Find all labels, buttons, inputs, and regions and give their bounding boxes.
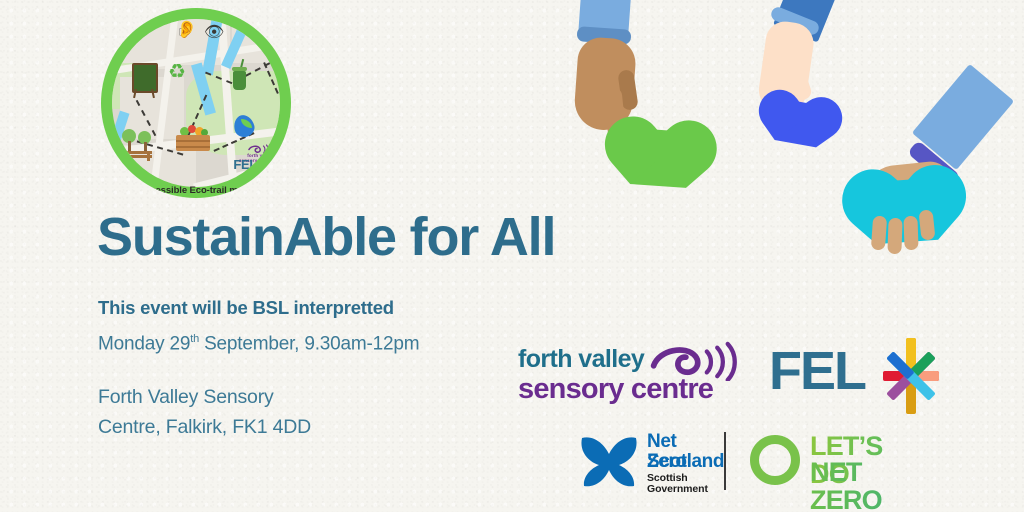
- vegetable-crate-icon: [174, 127, 214, 153]
- nzs-line4: Government: [647, 484, 708, 496]
- page-title: SustainAble for All: [97, 206, 555, 268]
- water-drop-leaf-icon: [232, 113, 258, 141]
- fel-logo: FEL: [769, 340, 944, 420]
- bsl-note: This event will be BSL interpretted: [98, 297, 394, 319]
- coffee-cup-icon: [230, 65, 252, 93]
- fel-wordmark: FEL: [769, 344, 865, 398]
- event-date: Monday 29th September, 9.30am-12pm: [98, 333, 419, 355]
- venue-address: Forth Valley Sensory Centre, Falkirk, FK…: [98, 382, 311, 442]
- eco-trail-map-badge: ☞ 👂 👁 ♻: [101, 8, 291, 198]
- ldnz-line2: NET ZERO: [810, 458, 925, 512]
- fvsc-line1: forth valley: [518, 345, 644, 374]
- green-circle-icon: [750, 435, 800, 485]
- recycle-icon: ♻: [168, 61, 186, 81]
- net-zero-scotland-logo: Net Zero Scotland Scottish Government: [578, 430, 718, 492]
- badge-fel-logo: FEL: [233, 154, 272, 174]
- poster-canvas: ☞ 👂 👁 ♻: [0, 0, 1024, 512]
- eye-vision-icon: 👁: [204, 24, 224, 39]
- date-ordinal: th: [190, 333, 199, 345]
- badge-fel-word: FEL: [233, 157, 257, 172]
- venue-line-2: Centre, Falkirk, FK1 4DD: [98, 412, 311, 442]
- nzs-line2: Scotland: [647, 452, 724, 472]
- colorful-asterisk-icon: [877, 336, 945, 416]
- forth-valley-sensory-centre-logo: forth valley sensory centre: [518, 345, 743, 415]
- badge-caption: Accessible Eco-trail maps: [101, 184, 291, 198]
- logo-divider: [724, 432, 726, 490]
- map-illustration: ☞ 👂 👁 ♻: [112, 19, 280, 187]
- eye-sound-waves-icon: [247, 142, 273, 153]
- park-bench-icon: [120, 129, 160, 161]
- finger: [903, 216, 918, 250]
- chalkboard-sign-icon: [130, 63, 158, 101]
- blue-heart-icon: [775, 99, 824, 148]
- date-prefix: Monday 29: [98, 333, 190, 354]
- saltire-butterfly-icon: [578, 435, 640, 487]
- finger: [887, 218, 902, 254]
- lets-do-net-zero-logo: LET’S DO NET ZERO: [750, 432, 925, 490]
- venue-line-1: Forth Valley Sensory: [98, 382, 311, 412]
- colorful-asterisk-icon: [259, 154, 272, 174]
- hand-cyan-heart: [838, 78, 1024, 298]
- finger: [871, 216, 887, 251]
- green-heart-icon: [630, 128, 690, 188]
- hand-green-heart: [560, 0, 740, 188]
- date-suffix: September, 9.30am-12pm: [199, 333, 419, 354]
- eye-sound-waves-icon: [646, 341, 741, 381]
- ear-hearing-icon: 👂: [176, 23, 197, 38]
